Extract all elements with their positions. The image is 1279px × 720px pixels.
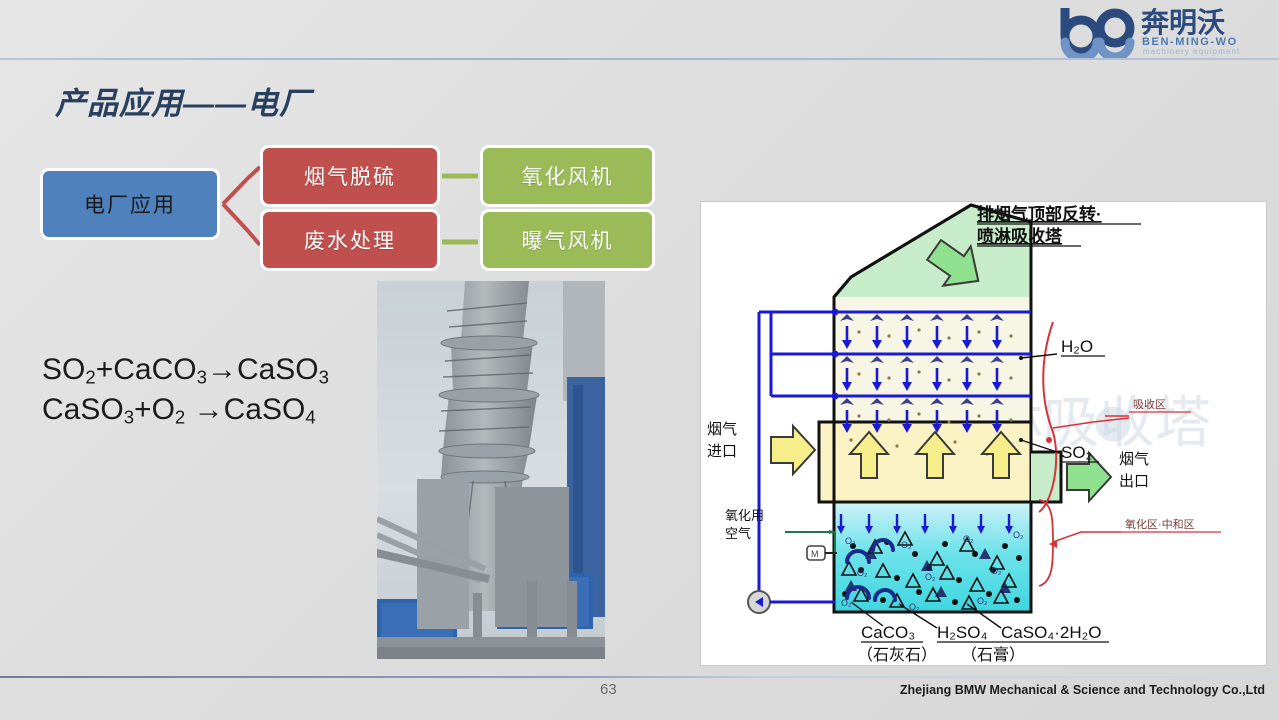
species-gypsum: CaSO₄·2H₂O: [1001, 623, 1101, 642]
eq2-reactant-a: CaSO: [42, 393, 124, 426]
eq1-reactant-b: CaCO: [113, 353, 196, 386]
logo-tagline: machinery equipment: [1143, 47, 1240, 56]
svg-text:O₂: O₂: [1013, 530, 1024, 540]
eq2-product: CaSO: [224, 393, 306, 426]
flow-node-desulfurization-label: 烟气脱硫: [304, 161, 396, 191]
flow-node-wastewater[interactable]: 废水处理: [260, 209, 440, 271]
gypsum-name: （石膏）: [961, 645, 1025, 664]
species-h2o: H₂O: [1061, 337, 1093, 356]
zone-label-oxidation-neutral: 氧化区·中和区: [1125, 517, 1195, 531]
eq1-reactant-b-sub: 3: [197, 367, 207, 388]
outlet-label-line1: 烟气: [1119, 451, 1149, 468]
footer-divider: [0, 676, 1279, 678]
logo-chinese-name: 奔明沃: [1141, 7, 1225, 38]
svg-text:O₂: O₂: [901, 540, 912, 550]
eq2-arrow: →: [194, 393, 224, 426]
species-so2: SO₂: [1061, 443, 1092, 462]
inlet-label-line1: 烟气: [707, 421, 737, 438]
footer-company: Zhejiang BMW Mechanical & Science and Te…: [900, 683, 1265, 697]
diagram-title-line2: 喷淋吸收塔: [977, 226, 1063, 246]
svg-text:O₂: O₂: [991, 566, 1002, 576]
zone-label-absorption: 吸收区: [1133, 397, 1166, 411]
outlet-label-line2: 出口: [1119, 473, 1149, 490]
tower-liquid-pool: [834, 502, 1031, 612]
plant-photo: [377, 281, 605, 659]
svg-text:O₂: O₂: [925, 572, 936, 582]
eq2-reactant-b: O: [152, 393, 175, 426]
svg-text:O₂: O₂: [909, 602, 920, 612]
eq2-reactant-a-sub: 3: [124, 406, 134, 427]
page-title: 产品应用——电厂: [55, 78, 311, 123]
bo-monogram-icon: [1065, 8, 1130, 58]
flow-node-oxidation-blower[interactable]: 氧化风机: [480, 145, 655, 207]
eq2-product-sub: 4: [305, 406, 315, 427]
flow-node-root-label: 电厂应用: [84, 189, 176, 219]
company-logo: 奔明沃 BEN-MING-WO machinery equipment: [1059, 2, 1269, 58]
flow-node-aeration-blower[interactable]: 曝气风机: [480, 209, 655, 271]
flow-node-desulfurization[interactable]: 烟气脱硫: [260, 145, 440, 207]
diagram-title-line1: 排烟气顶部反转·: [977, 204, 1102, 224]
inlet-label-line2: 进口: [707, 443, 737, 460]
eq1-product-sub: 3: [319, 367, 329, 388]
eq1-product: CaSO: [237, 353, 319, 386]
eq1-reactant-a-sub: 2: [85, 367, 95, 388]
limestone-name: （石灰石）: [857, 646, 937, 664]
oxidation-air-label-line1: 氧化用: [725, 508, 764, 523]
flow-node-aeration-blower-label: 曝气风机: [522, 225, 614, 255]
flow-node-oxidation-blower-label: 氧化风机: [522, 161, 614, 191]
svg-text:O₂: O₂: [841, 598, 852, 608]
gas-up-arrows: [850, 432, 1020, 478]
eq2-reactant-b-sub: 2: [175, 406, 185, 427]
species-h2so4: H₂SO₄: [937, 623, 987, 642]
svg-text:M: M: [811, 549, 819, 559]
flowchart: 电厂应用 烟气脱硫 废水处理 氧化风机 曝气风机: [40, 143, 665, 273]
slide: 奔明沃 BEN-MING-WO machinery equipment 产品应用…: [0, 0, 1279, 720]
eq1-arrow: →: [207, 353, 237, 386]
chemical-equations: SO2+CaCO3→CaSO3 CaSO3+O2 →CaSO4: [42, 350, 329, 430]
oxidation-air-label-line2: 空气: [725, 526, 751, 541]
equation-1: SO2+CaCO3→CaSO3: [42, 350, 329, 390]
flow-node-root[interactable]: 电厂应用: [40, 168, 220, 240]
eq1-reactant-a: SO: [42, 353, 85, 386]
species-caco3: CaCO₃: [861, 623, 915, 642]
equation-2: CaSO3+O2 →CaSO4: [42, 390, 329, 430]
svg-text:O₂: O₂: [977, 596, 988, 606]
svg-text:O₂: O₂: [963, 534, 974, 544]
eq2-plus: +: [134, 393, 152, 426]
svg-text:O₂: O₂: [845, 536, 856, 546]
flow-node-wastewater-label: 废水处理: [304, 225, 396, 255]
absorber-tower-diagram: 喷淋吸收塔: [700, 201, 1267, 666]
eq1-plus: +: [96, 353, 114, 386]
page-number: 63: [600, 681, 617, 698]
svg-text:O₂: O₂: [857, 568, 868, 578]
header-divider: [0, 58, 1279, 60]
